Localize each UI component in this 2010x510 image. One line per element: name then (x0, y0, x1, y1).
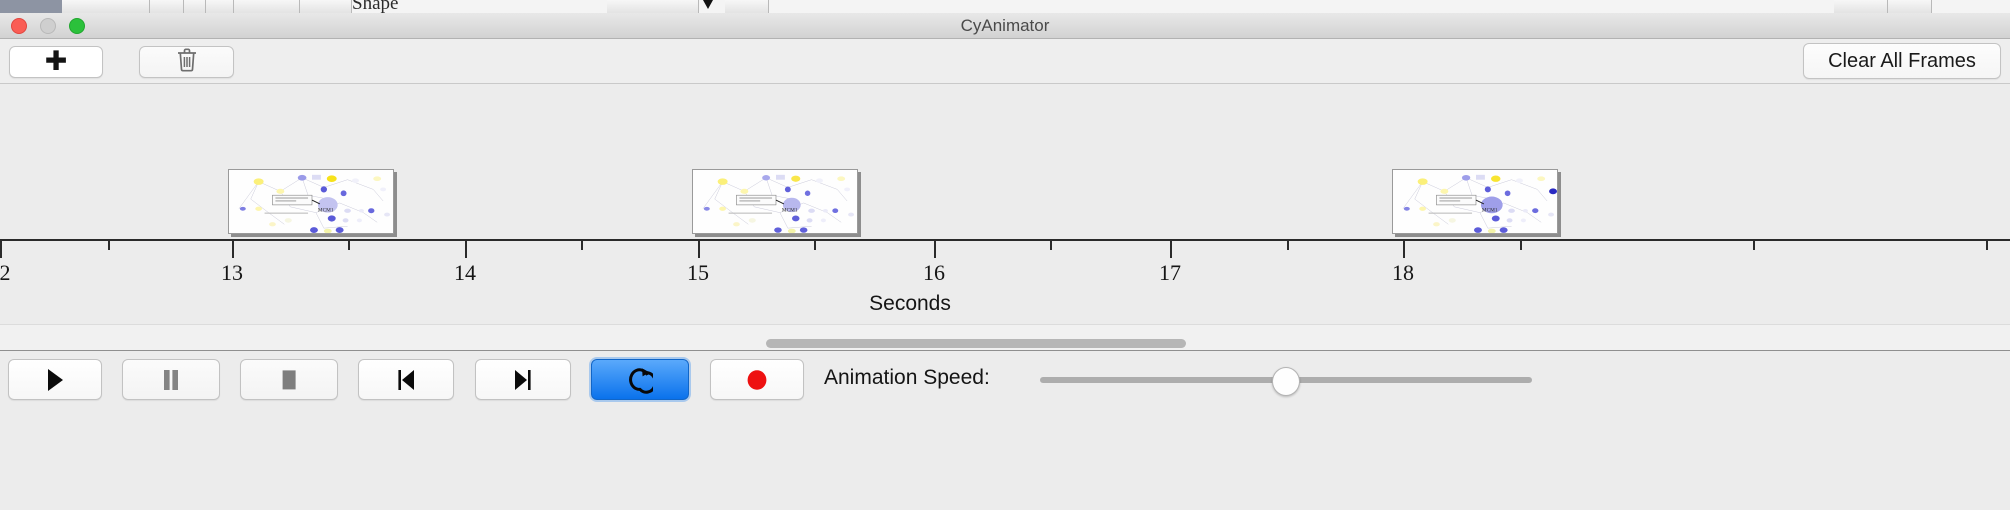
axis-tick-major (1403, 241, 1405, 258)
background-window-tab (607, 0, 699, 13)
stop-button[interactable] (240, 359, 338, 400)
axis-tick-minor (348, 241, 350, 250)
axis-tick-label: 15 (687, 260, 709, 286)
frame-thumbnail-2[interactable]: MCM1 (692, 169, 858, 234)
pause-icon (160, 367, 182, 393)
animation-speed-label: Animation Speed: (824, 366, 990, 390)
clear-all-frames-button[interactable]: Clear All Frames (1803, 43, 2001, 79)
scrollbar-thumb[interactable] (766, 339, 1186, 348)
axis-tick-label: 16 (923, 260, 945, 286)
frame-thumbnail-3[interactable]: MCM1 (1392, 169, 1558, 234)
axis-tick-minor (108, 241, 110, 250)
axis-tick-minor (581, 241, 583, 250)
record-icon (745, 367, 769, 393)
timeline-scrollbar[interactable] (0, 324, 2010, 350)
background-window-sidebar (0, 0, 62, 13)
animation-speed-slider[interactable] (1040, 359, 1532, 400)
axis-tick-label: 13 (221, 260, 243, 286)
scrollbar-track[interactable] (0, 331, 2010, 344)
axis-tick-minor (1050, 241, 1052, 250)
axis-tick-major (698, 241, 700, 258)
axis-tick-major (0, 241, 2, 258)
axis-tick-minor (814, 241, 816, 250)
skip-forward-icon (512, 367, 534, 393)
record-button[interactable] (710, 359, 804, 400)
axis-tick-minor (1753, 241, 1755, 250)
loop-button[interactable] (591, 359, 689, 400)
background-window-tab (234, 0, 300, 13)
background-window-tab (1834, 0, 1888, 13)
timeline-panel[interactable]: MCM1 (0, 85, 2010, 324)
skip-forward-button[interactable] (475, 359, 571, 400)
background-window-tab (184, 0, 206, 13)
slider-knob[interactable] (1272, 367, 1300, 396)
axis-tick-major (232, 241, 234, 258)
play-icon (44, 367, 66, 393)
axis-tick-label: 17 (1159, 260, 1181, 286)
plus-icon: ✚ (45, 48, 68, 75)
background-window-tab (725, 0, 769, 13)
background-window-tab (62, 0, 150, 13)
svg-text:MCM1: MCM1 (318, 208, 334, 214)
background-window-tab (150, 0, 184, 13)
clear-all-frames-label: Clear All Frames (1828, 50, 1976, 73)
pause-button[interactable] (122, 359, 220, 400)
background-window-strip: Shape (0, 0, 2010, 13)
axis-tick-minor (1520, 241, 1522, 250)
svg-text:MCM1: MCM1 (1482, 208, 1498, 214)
axis-tick-minor (1287, 241, 1289, 250)
background-window-tab (206, 0, 234, 13)
background-window-label: Shape (352, 0, 398, 13)
skip-backward-icon (395, 367, 417, 393)
play-button[interactable] (8, 359, 102, 400)
axis-tick-label: 18 (1392, 260, 1414, 286)
axis-tick-minor (1986, 241, 1988, 250)
add-frame-button[interactable]: ✚ (9, 46, 103, 78)
playback-control-bar: Animation Speed: (0, 350, 2010, 510)
background-window-tab (300, 0, 352, 13)
axis-tick-major (934, 241, 936, 258)
trash-icon (176, 47, 198, 78)
axis-tick-major (465, 241, 467, 258)
background-window-cursor-icon (703, 0, 713, 9)
axis-tick-label: 14 (454, 260, 476, 286)
svg-text:MCM1: MCM1 (782, 208, 798, 214)
axis-title: Seconds (869, 292, 951, 316)
skip-backward-button[interactable] (358, 359, 454, 400)
background-window-tab (1888, 0, 1932, 13)
axis-tick-label: 2 (0, 260, 11, 286)
window-title-bar: CyAnimator (0, 13, 2010, 39)
axis-tick-major (1170, 241, 1172, 258)
frame-toolbar: ✚ Clear All Frames (0, 39, 2010, 84)
loop-icon (627, 366, 653, 394)
delete-frame-button[interactable] (139, 46, 234, 78)
timeline-axis (0, 239, 2010, 241)
frame-thumbnail-1[interactable]: MCM1 (228, 169, 394, 234)
stop-icon (278, 367, 300, 393)
window-title: CyAnimator (0, 13, 2010, 39)
